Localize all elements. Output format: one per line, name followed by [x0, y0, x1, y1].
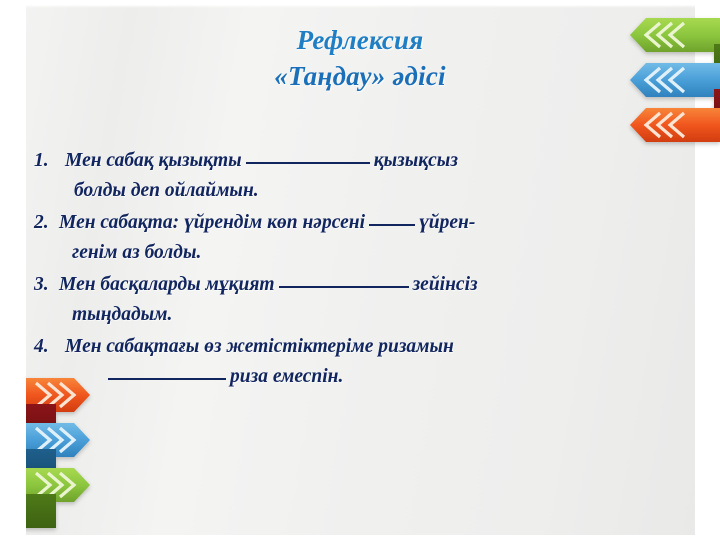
list-item: 4.Мен сабақтағы өз жетістіктеріме ризамы…	[34, 332, 694, 392]
list-item-line2: болды деп ойлаймын.	[34, 176, 694, 206]
list-item: 3.Мен басқаларды мұқиятзейінсіз тыңдадым…	[34, 270, 694, 330]
list-item-text-before: Мен басқаларды мұқият	[59, 270, 275, 300]
slide-canvas: Рефлексия «Таңдау» әдісі 1.Мен сабақ қыз…	[0, 0, 720, 540]
fill-in-blank[interactable]	[108, 363, 226, 380]
slide-title: Рефлексия «Таңдау» әдісі	[0, 22, 720, 94]
left-margin	[0, 0, 26, 540]
bottom-margin	[0, 536, 720, 540]
list-item-text-before: Мен сабақтағы өз жетістіктеріме ризамын	[65, 332, 454, 362]
list-item-line2: тыңдадым.	[34, 300, 694, 330]
orange-chevron-banner	[612, 108, 720, 142]
title-line-2: «Таңдау» әдісі	[0, 58, 720, 94]
list-item-text-before: Мен сабақ қызықты	[65, 146, 242, 176]
list-item-number: 1.	[34, 146, 52, 176]
list-item: 2.Мен сабақта: үйрендім көп нәрсеніүйрен…	[34, 208, 694, 268]
fill-in-blank[interactable]	[369, 209, 415, 226]
fill-in-blank[interactable]	[279, 271, 409, 288]
list-item: 1.Мен сабақ қызықтықызықсыз болды деп ой…	[34, 146, 694, 206]
list-item-number: 4.	[34, 332, 52, 362]
list-item-number: 2.	[34, 208, 52, 238]
list-item-text-after: қызықсыз	[374, 146, 458, 176]
list-item-line2-wrap: риза емеспін.	[34, 362, 694, 392]
list-item-text-after: зейінсіз	[413, 270, 478, 300]
orange-chevron-icon	[612, 108, 720, 142]
list-item-text-after: үйрен-	[419, 208, 475, 238]
list-item-line2: генім аз болды.	[34, 238, 694, 268]
reflection-list: 1.Мен сабақ қызықтықызықсыз болды деп ой…	[34, 146, 694, 394]
list-item-number: 3.	[34, 270, 52, 300]
list-item-line2: риза емеспін.	[230, 362, 343, 392]
title-line-1: Рефлексия	[0, 22, 720, 58]
list-item-text-before: Мен сабақта: үйрендім көп нәрсені	[59, 208, 365, 238]
fill-in-blank[interactable]	[246, 147, 370, 164]
